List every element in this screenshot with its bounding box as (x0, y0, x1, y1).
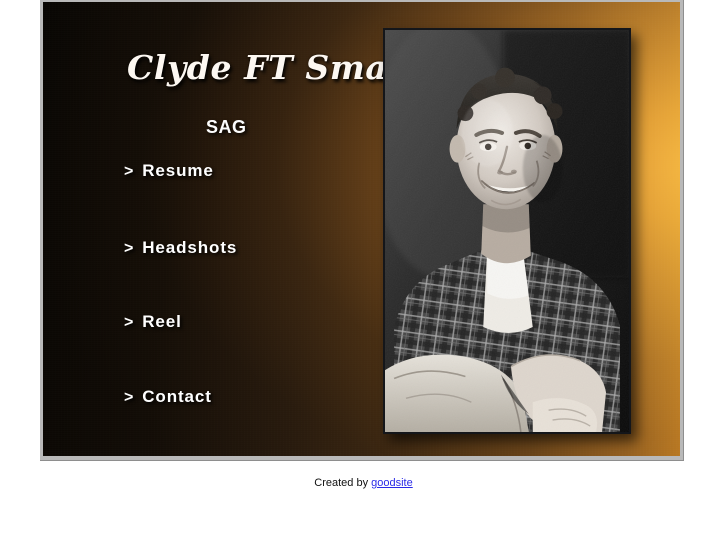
chevron-right-icon: > (124, 314, 134, 332)
credit-link[interactable]: goodsite (371, 477, 413, 489)
nav-item-label: Reel (142, 312, 182, 332)
page-stage: Clyde FT Small SAG > Resume > Headshots … (0, 0, 727, 545)
headshot-photo (383, 28, 631, 434)
content-panel-frame: Clyde FT Small SAG > Resume > Headshots … (40, 0, 684, 461)
headshot-image (385, 30, 629, 432)
nav-item-reel[interactable]: > Reel (124, 312, 182, 332)
left-column: Clyde FT Small SAG > Resume > Headshots … (43, 2, 383, 456)
chevron-right-icon: > (124, 163, 134, 181)
nav-item-label: Resume (142, 161, 214, 181)
nav-item-resume[interactable]: > Resume (124, 161, 214, 181)
credit-text: Created by (314, 477, 368, 489)
main-navigation: > Resume > Headshots > Reel > Contact (43, 2, 383, 456)
footer-credit: Created by goodsite (0, 477, 727, 489)
nav-item-label: Contact (142, 387, 212, 407)
chevron-right-icon: > (124, 240, 134, 258)
nav-item-label: Headshots (142, 238, 237, 258)
chevron-right-icon: > (124, 389, 134, 407)
content-panel: Clyde FT Small SAG > Resume > Headshots … (43, 2, 680, 456)
nav-item-contact[interactable]: > Contact (124, 387, 212, 407)
photo-frame (383, 28, 631, 434)
nav-item-headshots[interactable]: > Headshots (124, 238, 237, 258)
